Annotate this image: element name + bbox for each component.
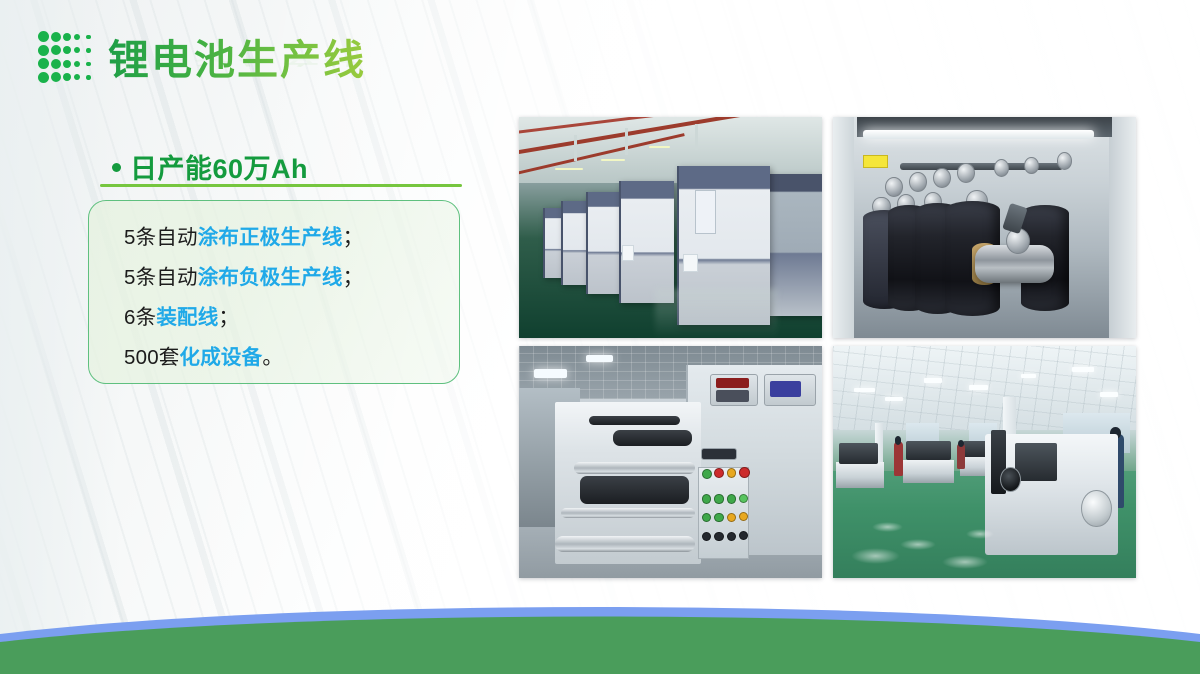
photo-coating-machine-control-panel: 涂布机及控制面板 — [519, 346, 822, 578]
line-highlight: 涂布负极生产线 — [198, 266, 343, 289]
list-item: 500套化成设备。 — [124, 338, 454, 378]
line-prefix: 500套 — [124, 346, 180, 369]
photo-assembly-line-workshop: 装配线车间 — [833, 346, 1136, 578]
subheading-underline — [100, 184, 462, 187]
photo-grid: 锂电池化成设备车间 — [519, 117, 1136, 578]
list-item: 5条自动涂布负极生产线； — [124, 258, 454, 298]
line-suffix: ； — [343, 226, 364, 249]
line-highlight: 装配线 — [156, 306, 218, 329]
photo-formation-equipment-room: 锂电池化成设备车间 — [519, 117, 822, 338]
page-title: 锂电池生产线 — [108, 26, 366, 86]
line-highlight: 化成设备 — [180, 346, 263, 369]
bullet-dot-icon — [112, 163, 121, 172]
footer-decoration — [0, 594, 1200, 674]
photo-electrode-slitting-machine: 极片分切机与电极卷料 — [833, 117, 1136, 338]
list-item: 6条装配线； — [124, 298, 454, 338]
subheading: 日产能60万Ah — [112, 147, 308, 186]
dot-grid-row — [38, 44, 98, 58]
line-prefix: 5条自动 — [124, 226, 198, 249]
slide-root: 锂电池生产线 锂电池生产线 日产能60万Ah 5条自动涂布正极生产线； 5条自动… — [0, 0, 1200, 674]
dot-grid-icon — [38, 30, 98, 84]
line-prefix: 6条 — [124, 306, 156, 329]
line-suffix: ； — [218, 306, 239, 329]
dot-grid-row — [38, 57, 98, 71]
line-highlight: 涂布正极生产线 — [198, 226, 343, 249]
line-suffix: ； — [343, 266, 364, 289]
dot-grid-row — [38, 71, 98, 85]
dot-grid-row — [38, 30, 98, 44]
line-prefix: 5条自动 — [124, 266, 198, 289]
subheading-label: 日产能60万Ah — [130, 147, 308, 186]
info-box-content: 5条自动涂布正极生产线； 5条自动涂布负极生产线； 6条装配线； 500套化成设… — [124, 218, 454, 378]
line-suffix: 。 — [262, 346, 283, 369]
list-item: 5条自动涂布正极生产线； — [124, 218, 454, 258]
